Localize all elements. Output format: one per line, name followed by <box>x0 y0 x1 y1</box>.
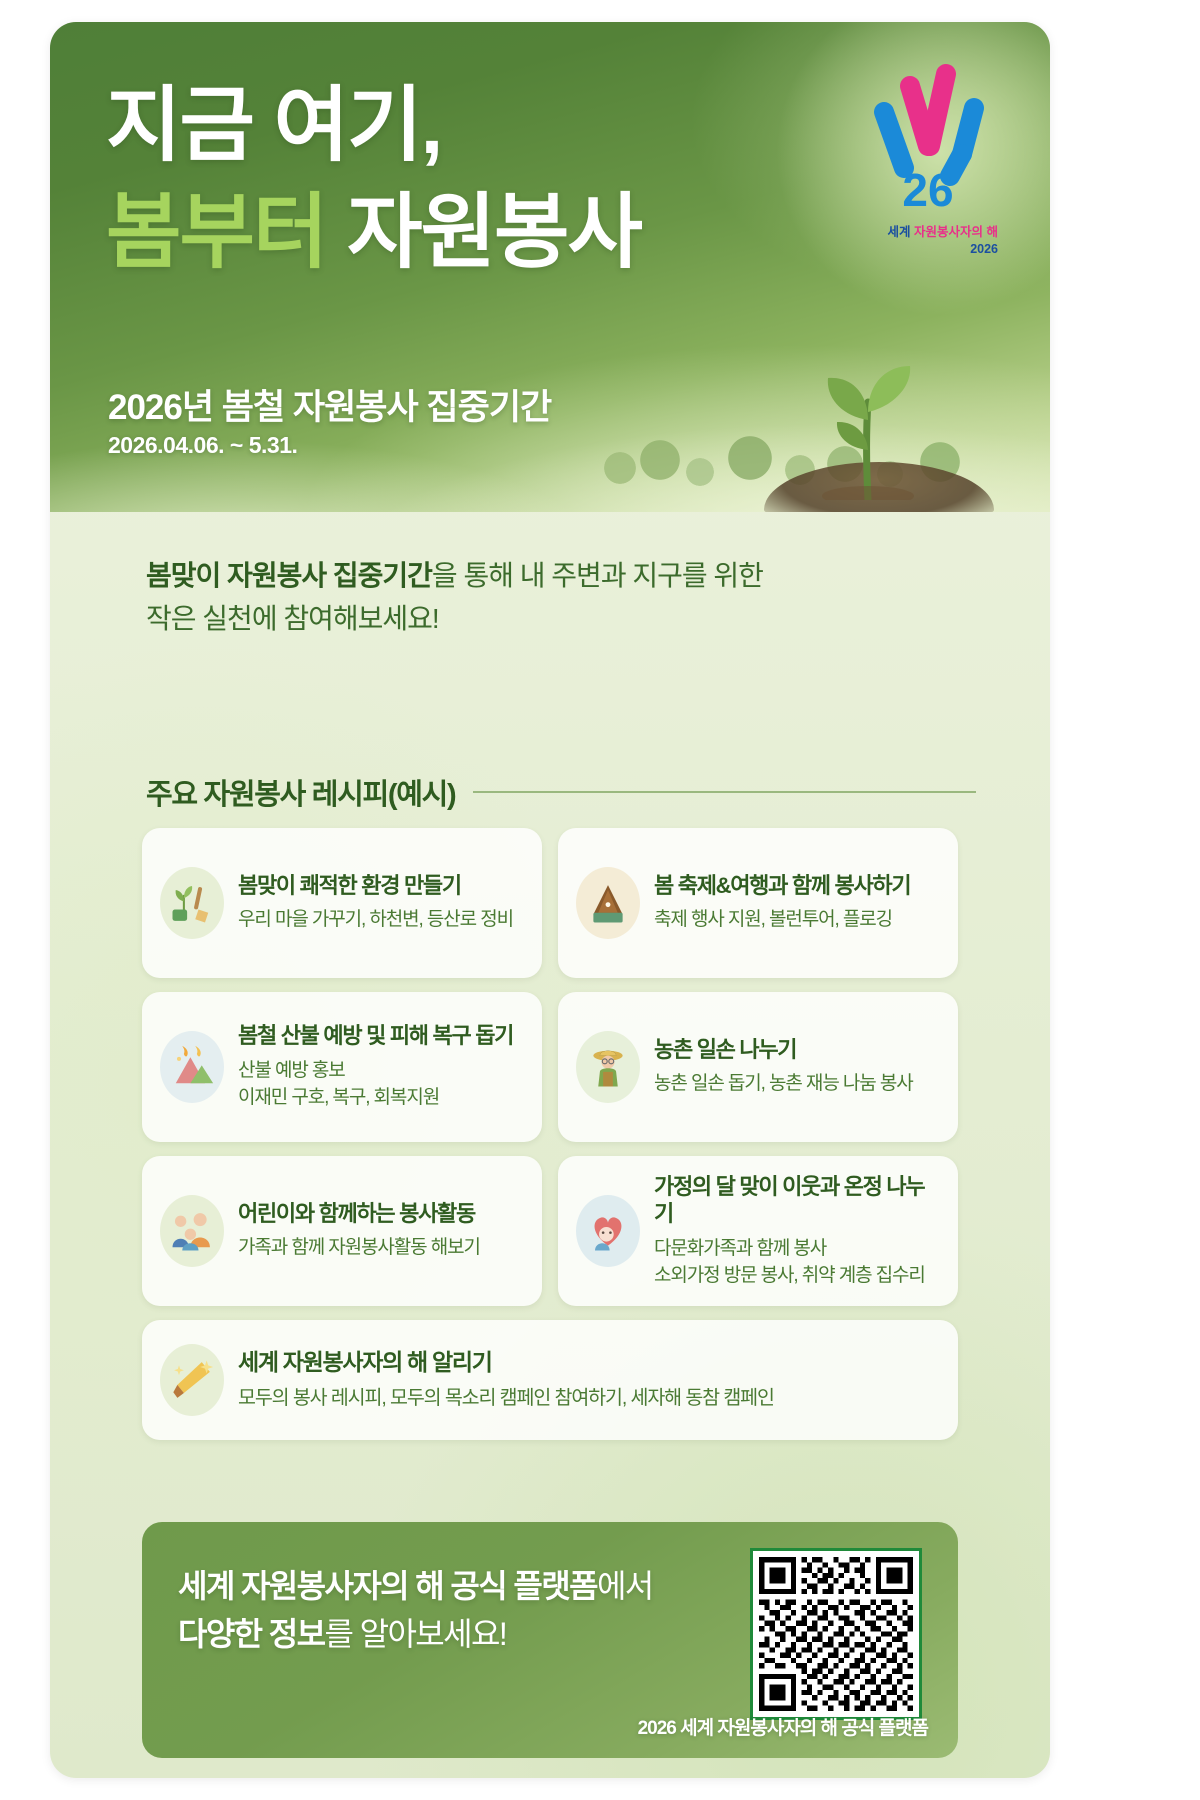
cta-line-1: 세계 자원봉사자의 해 공식 플랫폼에서 <box>178 1562 738 1610</box>
recipe-card-desc: 농촌 일손 돕기, 농촌 재능 나눔 봉사 <box>654 1071 940 1098</box>
cta-banner: 세계 자원봉사자의 해 공식 플랫폼에서 다양한 정보를 알아보세요! <box>142 1522 958 1758</box>
cta-note: 2026 세계 자원봉사자의 해 공식 플랫폼 <box>638 1713 928 1740</box>
title-line-1: 지금 여기, <box>106 78 866 175</box>
heart-hug-icon <box>576 1195 640 1267</box>
recipe-card-title: 가정의 달 맞이 이웃과 온정 나누기 <box>654 1173 940 1228</box>
title-rest-volunteer: 자원봉사 <box>347 187 641 278</box>
recipe-card-body: 봄철 산불 예방 및 피해 복구 돕기 산불 예방 홍보 이재민 구호, 복구,… <box>238 1022 524 1111</box>
page-title: 지금 여기, 봄부터 자원봉사 <box>106 78 866 282</box>
intro-line-2: 작은 실천에 참여해보세요! <box>146 597 976 640</box>
recipe-card-desc-line: 다문화가족과 함께 봉사 <box>654 1236 940 1263</box>
title-highlight-spring: 봄부터 <box>106 187 326 278</box>
recipe-card-body: 가정의 달 맞이 이웃과 온정 나누기 다문화가족과 함께 봉사 소외가정 방문… <box>654 1173 940 1290</box>
recipe-card-desc: 축제 행사 지원, 볼런투어, 플로깅 <box>654 907 940 934</box>
poster-header: 지금 여기, 봄부터 자원봉사 2026년 봄철 자원봉사 집중기간 2026.… <box>50 22 1050 512</box>
recipe-card-title: 봄맞이 쾌적한 환경 만들기 <box>238 872 524 900</box>
recipe-card[interactable]: 봄철 산불 예방 및 피해 복구 돕기 산불 예방 홍보 이재민 구호, 복구,… <box>142 992 542 1142</box>
qr-code[interactable] <box>750 1548 922 1720</box>
section-heading-rule <box>473 791 976 793</box>
intro-paragraph: 봄맞이 자원봉사 집중기간을 통해 내 주변과 지구를 위한 작은 실천에 참여… <box>146 554 976 641</box>
recipe-card-desc-line: 모두의 봉사 레시피, 모두의 목소리 캠페인 참여하기, 세자해 동참 캠페인 <box>238 1385 940 1413</box>
poster-root: 지금 여기, 봄부터 자원봉사 2026년 봄철 자원봉사 집중기간 2026.… <box>50 22 1050 1778</box>
recipe-card-desc-line: 소외가정 방문 봉사, 취약 계층 집수리 <box>654 1263 940 1290</box>
recipe-card-title: 농촌 일손 나누기 <box>654 1036 940 1064</box>
broom-sapling-icon <box>160 867 224 939</box>
title-line-2: 봄부터 자원봉사 <box>106 185 866 282</box>
logo-caption-year: 2026 <box>858 241 998 258</box>
megaphone-sparkle-icon <box>160 1344 224 1416</box>
recipe-card-desc: 모두의 봉사 레시피, 모두의 목소리 캠페인 참여하기, 세자해 동참 캠페인 <box>238 1385 940 1413</box>
cta-line-2: 다양한 정보를 알아보세요! <box>178 1610 738 1658</box>
recipe-card-title: 세계 자원봉사자의 해 알리기 <box>238 1348 940 1377</box>
recipe-card-desc: 다문화가족과 함께 봉사 소외가정 방문 봉사, 취약 계층 집수리 <box>654 1236 940 1290</box>
cta-line-2-rest: 를 알아보세요! <box>325 1616 507 1652</box>
recipe-card-body: 세계 자원봉사자의 해 알리기 모두의 봉사 레시피, 모두의 목소리 캠페인 … <box>238 1348 940 1412</box>
ivy26-logo: 26 세계 자원봉사자의 해 2026 <box>858 50 998 270</box>
recipe-card-desc: 가족과 함께 자원봉사활동 해보기 <box>238 1235 524 1262</box>
recipe-card[interactable]: 봄맞이 쾌적한 환경 만들기 우리 마을 가꾸기, 하천변, 등산로 정비 <box>142 828 542 978</box>
logo-caption: 세계 자원봉사자의 해 2026 <box>858 224 998 258</box>
recipe-card[interactable]: 농촌 일손 나누기 농촌 일손 돕기, 농촌 재능 나눔 봉사 <box>558 992 958 1142</box>
recipe-card-desc-line: 우리 마을 가꾸기, 하천변, 등산로 정비 <box>238 907 524 934</box>
recipe-card-title: 봄 축제&여행과 함께 봉사하기 <box>654 872 940 900</box>
svg-text:26: 26 <box>902 164 953 210</box>
recipe-card-desc: 우리 마을 가꾸기, 하천변, 등산로 정비 <box>238 907 524 934</box>
recipe-card-desc-line: 산불 예방 홍보 <box>238 1058 524 1085</box>
sprout-plant-icon <box>802 350 932 500</box>
festival-tent-icon <box>576 867 640 939</box>
recipe-card[interactable]: 가정의 달 맞이 이웃과 온정 나누기 다문화가족과 함께 봉사 소외가정 방문… <box>558 1156 958 1306</box>
intro-line-1-rest: 을 통해 내 주변과 지구를 위한 <box>432 560 763 591</box>
intro-line-1: 봄맞이 자원봉사 집중기간을 통해 내 주변과 지구를 위한 <box>146 554 976 597</box>
recipe-card-desc-line: 농촌 일손 돕기, 농촌 재능 나눔 봉사 <box>654 1071 940 1098</box>
recipe-card-title: 어린이와 함께하는 봉사활동 <box>238 1200 524 1228</box>
cta-line-1-rest: 에서 <box>597 1568 653 1604</box>
wildfire-mountain-icon <box>160 1031 224 1103</box>
header-subtitle: 2026년 봄철 자원봉사 집중기간 <box>108 379 551 430</box>
header-date-range: 2026.04.06. ~ 5.31. <box>108 432 297 459</box>
logo-mark-icon: 26 <box>858 50 998 210</box>
farmer-icon <box>576 1031 640 1103</box>
recipe-card-body: 농촌 일손 나누기 농촌 일손 돕기, 농촌 재능 나눔 봉사 <box>654 1036 940 1098</box>
recipe-card[interactable]: 세계 자원봉사자의 해 알리기 모두의 봉사 레시피, 모두의 목소리 캠페인 … <box>142 1320 958 1440</box>
recipe-card-desc-line: 가족과 함께 자원봉사활동 해보기 <box>238 1235 524 1262</box>
logo-caption-prefix: 세계 <box>888 225 914 239</box>
recipe-card-desc: 산불 예방 홍보 이재민 구호, 복구, 회복지원 <box>238 1058 524 1112</box>
recipe-card-desc-line: 이재민 구호, 복구, 회복지원 <box>238 1085 524 1112</box>
recipe-card-body: 봄맞이 쾌적한 환경 만들기 우리 마을 가꾸기, 하천변, 등산로 정비 <box>238 872 524 934</box>
intro-bold-phrase: 봄맞이 자원봉사 집중기간 <box>146 560 432 591</box>
cta-line-2-bold: 다양한 정보 <box>178 1616 325 1652</box>
logo-caption-highlight: 자원봉사자의 해 <box>914 225 998 239</box>
cta-line-1-bold: 세계 자원봉사자의 해 공식 플랫폼 <box>178 1568 597 1604</box>
recipe-card-title: 봄철 산불 예방 및 피해 복구 돕기 <box>238 1022 524 1050</box>
recipe-card-body: 어린이와 함께하는 봉사활동 가족과 함께 자원봉사활동 해보기 <box>238 1200 524 1262</box>
recipe-card-desc-line: 축제 행사 지원, 볼런투어, 플로깅 <box>654 907 940 934</box>
recipe-card[interactable]: 봄 축제&여행과 함께 봉사하기 축제 행사 지원, 볼런투어, 플로깅 <box>558 828 958 978</box>
recipe-card-body: 봄 축제&여행과 함께 봉사하기 축제 행사 지원, 볼런투어, 플로깅 <box>654 872 940 934</box>
section-heading: 주요 자원봉사 레시피(예시) <box>146 772 976 812</box>
family-icon <box>160 1195 224 1267</box>
recipe-card-list: 봄맞이 쾌적한 환경 만들기 우리 마을 가꾸기, 하천변, 등산로 정비 봄 … <box>142 828 958 1440</box>
section-heading-text: 주요 자원봉사 레시피(예시) <box>146 771 455 813</box>
recipe-card[interactable]: 어린이와 함께하는 봉사활동 가족과 함께 자원봉사활동 해보기 <box>142 1156 542 1306</box>
cta-text: 세계 자원봉사자의 해 공식 플랫폼에서 다양한 정보를 알아보세요! <box>178 1562 738 1658</box>
